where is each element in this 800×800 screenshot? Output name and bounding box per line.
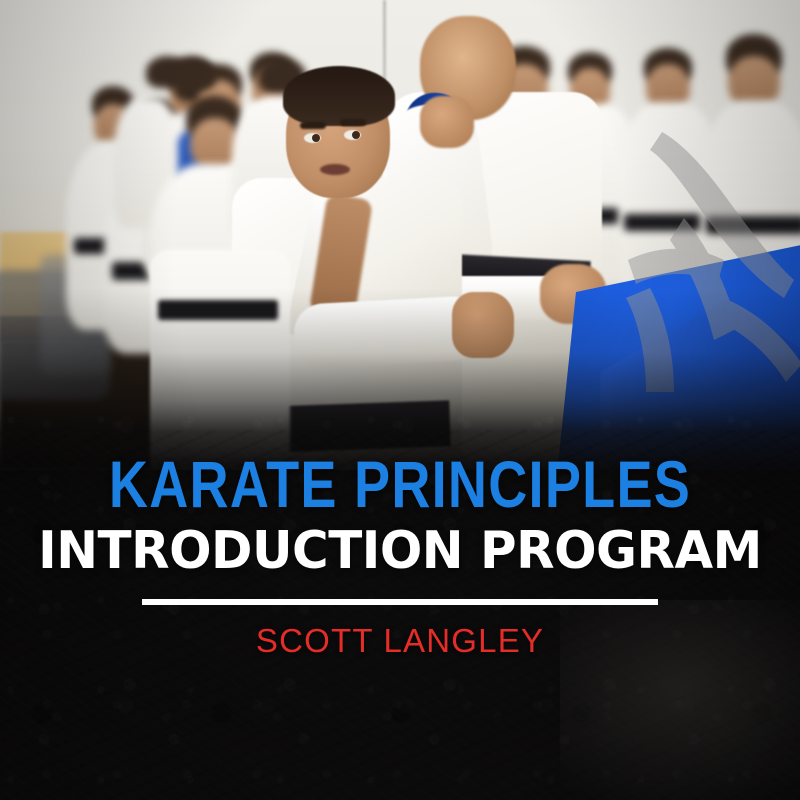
student-hand <box>420 96 474 148</box>
background-person-belt <box>706 216 800 234</box>
foreground-belt <box>158 300 278 320</box>
poster-author-name: SCOTT LANGLEY <box>0 622 800 660</box>
dojo-photo <box>0 0 800 470</box>
poster-title-primary: KARATE PRINCIPLES <box>72 452 728 516</box>
course-thumbnail-poster: KARATE PRINCIPLES INTRODUCTION PROGRAM S… <box>0 0 800 800</box>
instructor-fist <box>452 292 514 358</box>
instructor-pupil-right <box>352 131 360 139</box>
instructor-hair <box>283 66 395 126</box>
instructor-brow-left <box>300 122 326 129</box>
instructor-brow-right <box>340 119 366 126</box>
title-block: KARATE PRINCIPLES INTRODUCTION PROGRAM S… <box>0 452 800 660</box>
foreground-gi-pants <box>150 250 290 470</box>
poster-title-secondary: INTRODUCTION PROGRAM <box>16 522 784 580</box>
instructor-pupil-left <box>312 134 320 142</box>
background-person-head <box>178 60 216 90</box>
title-divider-rule <box>142 599 658 605</box>
instructor-mouth <box>320 164 350 175</box>
